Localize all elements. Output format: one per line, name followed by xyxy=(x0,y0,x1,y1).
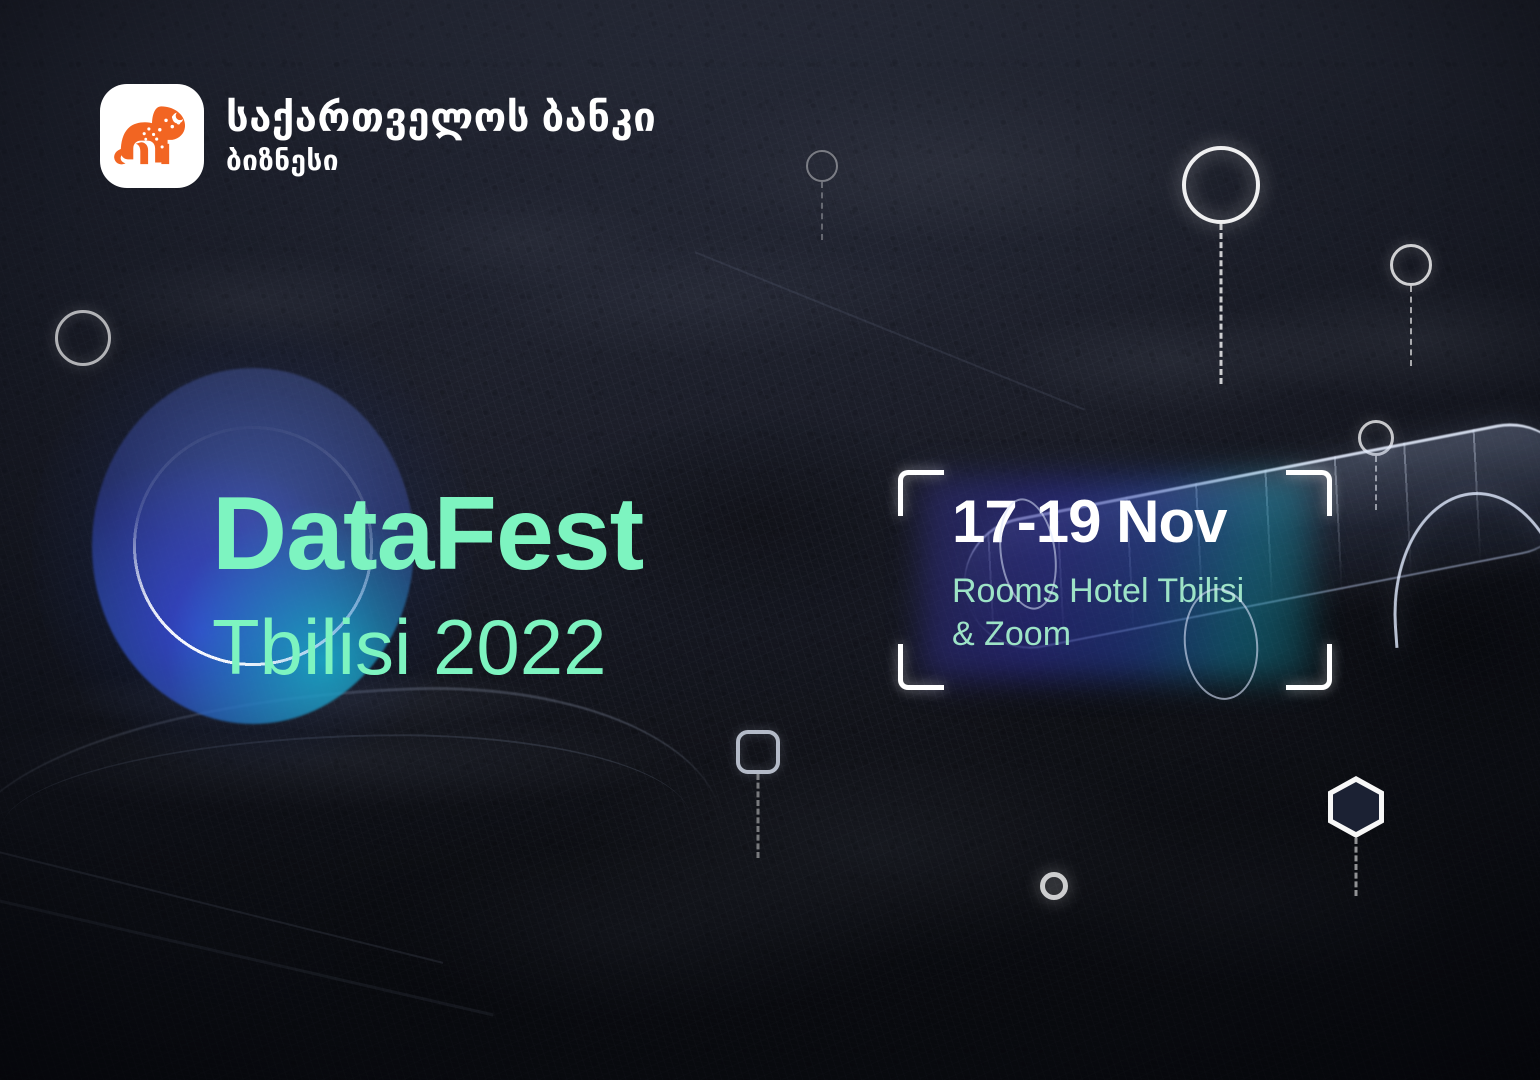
circle-marker-top-center xyxy=(806,150,838,182)
corner-bracket-top-right-icon xyxy=(1286,470,1332,516)
dash-line-small-right xyxy=(1410,286,1412,366)
square-marker-center-shape xyxy=(736,730,780,774)
circle-marker-large-upper-right xyxy=(1182,146,1260,224)
dash-line-top-center xyxy=(821,182,823,240)
corner-bracket-bottom-right-icon xyxy=(1286,644,1332,690)
circle-marker-large-ring xyxy=(1182,146,1260,224)
circle-marker-small-right-ring xyxy=(1390,244,1432,286)
circle-marker-lower-center-ring xyxy=(1040,872,1068,900)
event-headline: DataFest Tbilisi 2022 xyxy=(212,482,643,686)
bank-of-georgia-logo[interactable]: საქართველოს ბანკი ბიზნესი xyxy=(100,84,656,188)
logo-bank-name: საქართველოს ბანკი xyxy=(226,98,656,138)
circle-marker-lower-center xyxy=(1040,872,1068,900)
hexagon-marker-right xyxy=(1328,776,1384,838)
event-dates: 17-19 Nov xyxy=(952,492,1244,552)
event-details-panel: 17-19 Nov Rooms Hotel Tbilisi & Zoom xyxy=(894,466,1332,694)
page-title: DataFest xyxy=(212,482,643,586)
page-subtitle: Tbilisi 2022 xyxy=(212,608,643,686)
circle-marker-small-right xyxy=(1390,244,1432,286)
logo-segment-label: ბიზნესი xyxy=(226,147,656,175)
corner-bracket-top-left-icon xyxy=(898,470,944,516)
bank-of-georgia-lion-icon xyxy=(100,84,204,188)
corner-bracket-bottom-left-icon xyxy=(898,644,944,690)
dash-line-hexagon xyxy=(1355,838,1358,896)
logo-wordmark: საქართველოს ბანკი ბიზნესი xyxy=(226,98,656,175)
circle-marker-bridge-ring xyxy=(55,310,111,366)
circle-marker-top-center-ring xyxy=(806,150,838,182)
dash-line-large-upper-right xyxy=(1220,224,1223,384)
dash-line-square-center xyxy=(757,774,760,858)
circle-marker-bridge xyxy=(55,310,111,366)
square-marker-center xyxy=(736,730,780,774)
datafest-promo-banner: საქართველოს ბანკი ბიზნესი DataFest Tbili… xyxy=(0,0,1540,1080)
